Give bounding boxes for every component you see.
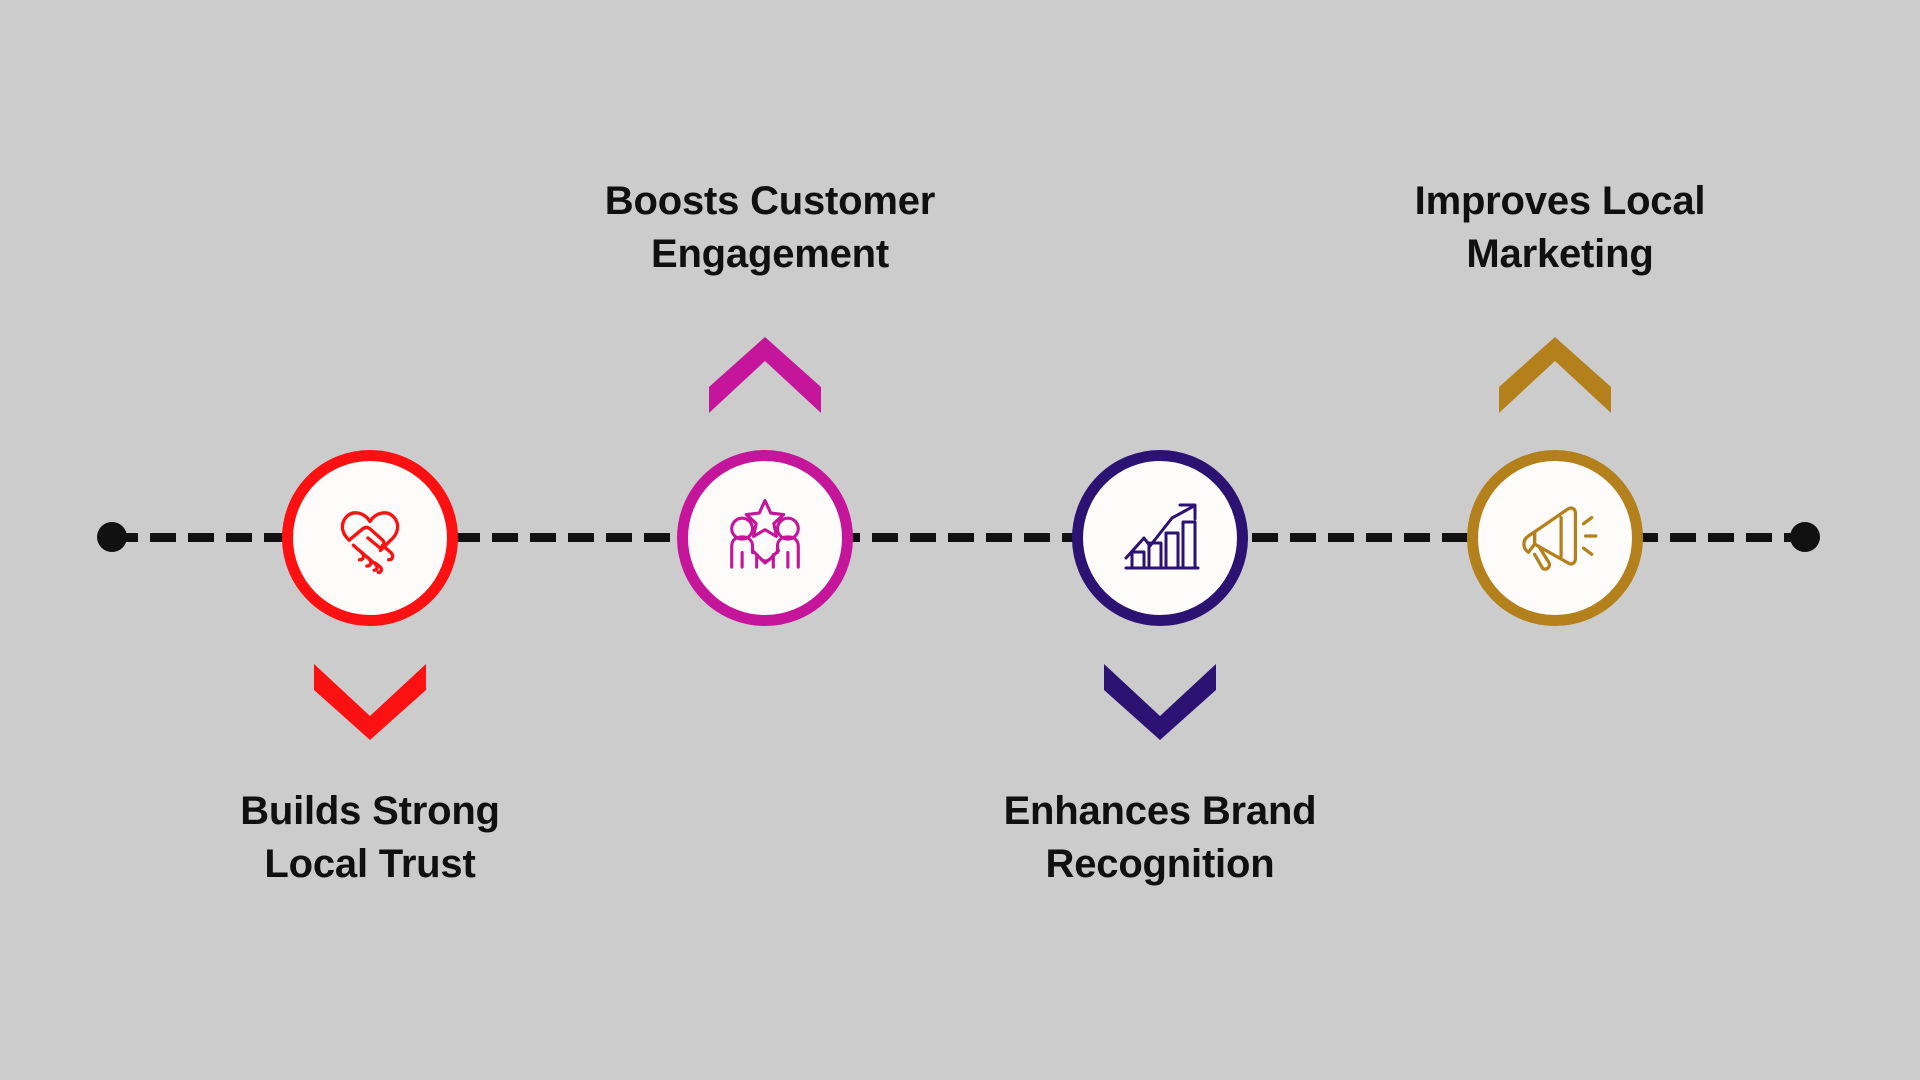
chevron-up-improves-local-marketing [1493,337,1617,421]
chevron-up-boosts-customer-engagement [703,337,827,421]
timeline-node-boosts-customer-engagement[interactable] [677,450,853,626]
node-circle-boosts-customer-engagement [677,450,853,626]
infographic-canvas: Builds Strong Local Trust [0,0,1920,1080]
timeline-node-builds-local-trust[interactable] [282,450,458,626]
label-line-2: Local Trust [135,838,605,891]
chevron-down-enhances-brand-recognition [1098,656,1222,740]
chevron-down-builds-local-trust [308,656,432,740]
label-line-2: Recognition [925,838,1395,891]
label-line-2: Engagement [535,228,1005,281]
label-enhances-brand-recognition: Enhances Brand Recognition [925,785,1395,891]
label-line-1: Improves Local [1325,175,1795,228]
node-circle-enhances-brand-recognition [1072,450,1248,626]
timeline-node-enhances-brand-recognition[interactable] [1072,450,1248,626]
timeline-node-improves-local-marketing[interactable] [1467,450,1643,626]
growth-bar-chart-arrow-icon [1110,488,1210,588]
label-line-1: Builds Strong [135,785,605,838]
label-line-1: Boosts Customer [535,175,1005,228]
label-line-1: Enhances Brand [925,785,1395,838]
people-handshake-star-icon [713,486,817,590]
node-circle-improves-local-marketing [1467,450,1643,626]
label-line-2: Marketing [1325,228,1795,281]
label-boosts-customer-engagement: Boosts Customer Engagement [535,175,1005,281]
node-circle-builds-local-trust [282,450,458,626]
label-improves-local-marketing: Improves Local Marketing [1325,175,1795,281]
label-builds-local-trust: Builds Strong Local Trust [135,785,605,891]
megaphone-icon [1504,487,1606,589]
handshake-heart-icon [318,486,422,590]
timeline-endpoint-right [1790,522,1820,552]
